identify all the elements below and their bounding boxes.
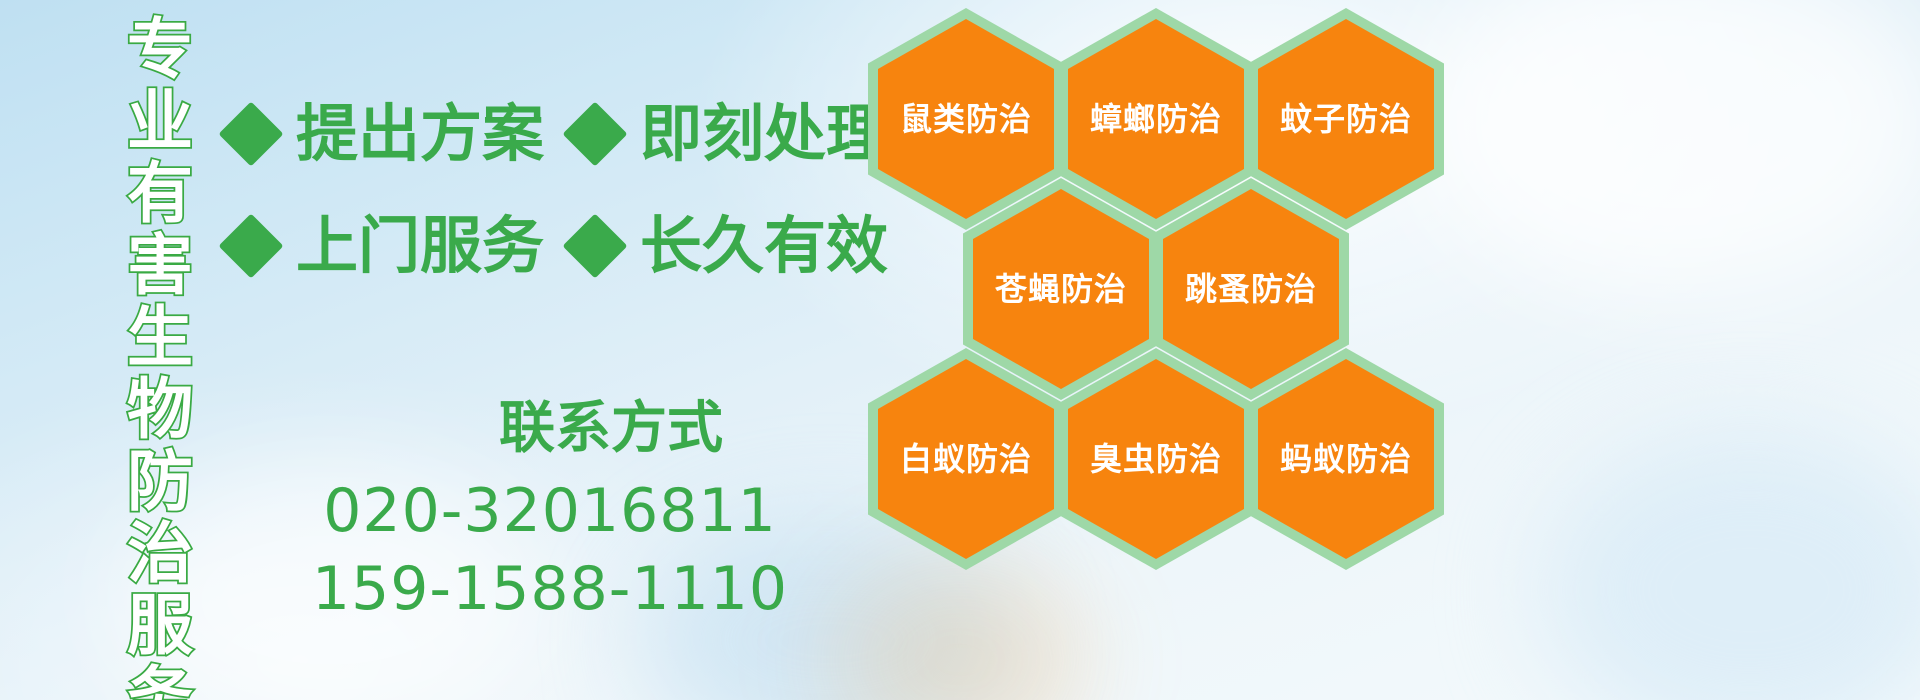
vertical-title-char: 物 (127, 374, 193, 446)
vertical-title-char: 务 (127, 662, 193, 700)
pest-control-banner: 专 业 有 害 生 物 防 治 服 务 提出方案 即刻处理 上门服务 (0, 0, 1920, 700)
feature-item-longlasting: 长久有效 (572, 215, 888, 277)
contact-phone-mobile[interactable]: 159-1588-1110 (300, 550, 800, 628)
service-hex-label: 蟑螂防治 (1090, 102, 1222, 136)
service-hex-inner: 蟑螂防治 (1068, 19, 1244, 219)
vertical-title-char: 服 (127, 590, 193, 662)
feature-row: 提出方案 即刻处理 (228, 78, 868, 190)
service-hex-label: 跳蚤防治 (1185, 272, 1317, 306)
service-hex-inner: 苍蝇防治 (973, 189, 1149, 389)
feature-list: 提出方案 即刻处理 上门服务 长久有效 (228, 78, 868, 302)
contact-block: 联系方式 020-32016811 159-1588-1110 (300, 398, 800, 628)
background-glow-bottom-right (1540, 430, 1920, 700)
feature-item-proposal: 提出方案 (228, 103, 544, 165)
contact-phone-landline[interactable]: 020-32016811 (300, 472, 800, 550)
feature-item-immediate: 即刻处理 (572, 103, 888, 165)
vertical-title-char: 专 (127, 14, 193, 86)
vertical-title-char: 防 (127, 446, 193, 518)
background-glow-top-right (1420, 0, 1920, 300)
service-hex-label: 蚊子防治 (1280, 102, 1412, 136)
background-glow-orange (830, 560, 1090, 700)
diamond-icon (562, 213, 627, 278)
diamond-icon (562, 101, 627, 166)
vertical-title-char: 有 (127, 158, 193, 230)
service-hex-label: 臭虫防治 (1090, 442, 1222, 476)
service-hex-label: 白蚁防治 (900, 442, 1032, 476)
feature-item-onsite: 上门服务 (228, 215, 544, 277)
service-hex-label: 苍蝇防治 (995, 272, 1127, 306)
service-hex-inner: 跳蚤防治 (1163, 189, 1339, 389)
vertical-title-char: 害 (127, 230, 193, 302)
feature-row: 上门服务 长久有效 (228, 190, 868, 302)
service-hex-inner: 鼠类防治 (878, 19, 1054, 219)
contact-heading: 联系方式 (422, 398, 800, 460)
feature-label: 提出方案 (296, 103, 544, 165)
service-hex-inner: 蚊子防治 (1258, 19, 1434, 219)
diamond-icon (218, 213, 283, 278)
service-hex-label: 蚂蚁防治 (1280, 442, 1412, 476)
service-hex-inner: 白蚁防治 (878, 359, 1054, 559)
vertical-title: 专 业 有 害 生 物 防 治 服 务 (112, 14, 208, 674)
vertical-title-char: 业 (127, 86, 193, 158)
vertical-title-char: 生 (127, 302, 193, 374)
service-hexagon-grid: 鼠类防治 蟑螂防治 蚊子防治 苍蝇防治 跳蚤防治 白蚁防治 (860, 0, 1480, 560)
service-hex-label: 鼠类防治 (900, 102, 1032, 136)
feature-label: 即刻处理 (640, 103, 888, 165)
service-hex-inner: 蚂蚁防治 (1258, 359, 1434, 559)
service-hex-inner: 臭虫防治 (1068, 359, 1244, 559)
diamond-icon (218, 101, 283, 166)
feature-label: 上门服务 (296, 215, 544, 277)
feature-label: 长久有效 (640, 215, 888, 277)
vertical-title-char: 治 (127, 518, 193, 590)
